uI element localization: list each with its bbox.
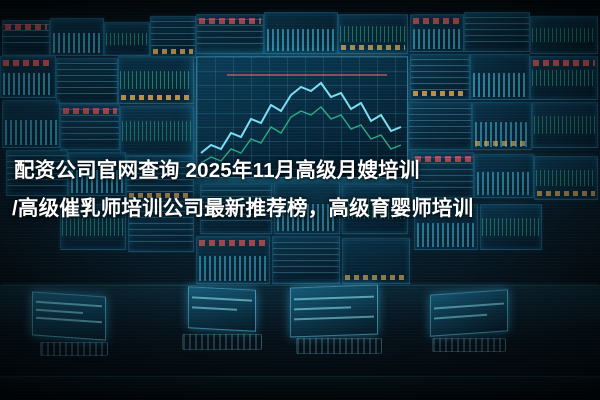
- desk-monitor: [32, 291, 106, 340]
- wall-monitor: [50, 18, 104, 56]
- wall-monitor: [338, 14, 408, 54]
- screenshot-root: 配资公司官网查询 2025年11月高级月嫂培训 /高级催乳师培训公司最新推荐榜，…: [0, 0, 600, 400]
- wall-monitor: [120, 106, 194, 156]
- wall-monitor: [150, 16, 196, 58]
- wall-monitor: [60, 104, 120, 150]
- wall-monitor: [530, 16, 598, 54]
- wall-monitor: [272, 236, 340, 284]
- wall-monitor: [410, 14, 464, 52]
- wall-monitor: [2, 20, 50, 56]
- wall-monitor: [2, 100, 60, 148]
- wall-monitor: [264, 12, 338, 54]
- wall-monitor: [472, 102, 532, 150]
- keyboard: [296, 338, 382, 354]
- wall-monitor: [56, 58, 118, 104]
- wall-monitor: [118, 56, 194, 104]
- wall-monitor: [410, 54, 470, 100]
- caption-line-1: 配资公司官网查询 2025年11月高级月嫂培训: [14, 152, 586, 190]
- wall-monitor: [0, 56, 56, 98]
- wall-monitor: [532, 102, 598, 148]
- desk-monitor: [430, 289, 508, 336]
- wall-monitor: [464, 12, 530, 52]
- desk-monitor: [188, 286, 256, 332]
- wall-monitor: [470, 54, 530, 100]
- wall-monitor: [408, 102, 472, 150]
- wall-monitor: [104, 22, 150, 56]
- overlay-caption: 配资公司官网查询 2025年11月高级月嫂培训 /高级催乳师培训公司最新推荐榜，…: [0, 152, 600, 228]
- keyboard: [432, 338, 506, 352]
- wall-monitor: [196, 236, 270, 284]
- desk-monitor: [290, 284, 378, 337]
- caption-line-2: /高级催乳师培训公司最新推荐榜，高级育婴师培训: [12, 190, 586, 228]
- desk-front-edge: [0, 376, 600, 400]
- keyboard: [182, 334, 262, 350]
- keyboard: [40, 342, 108, 356]
- wall-monitor: [342, 238, 410, 284]
- wall-monitor: [530, 56, 598, 100]
- wall-monitor: [196, 14, 264, 54]
